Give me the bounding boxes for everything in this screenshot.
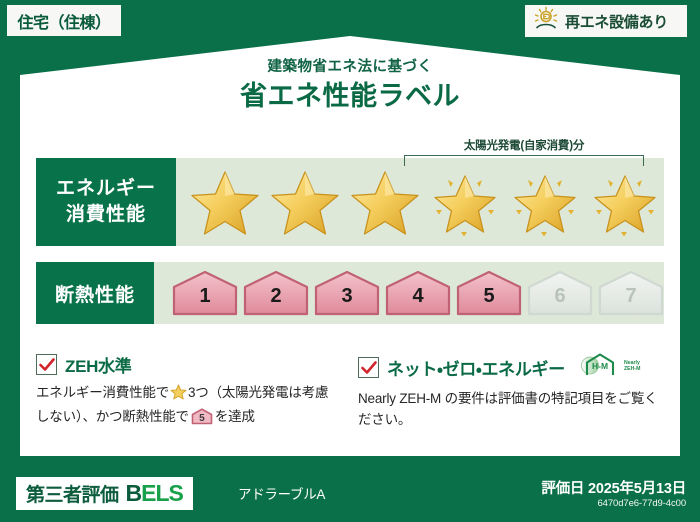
evaluation-id: 6470d7e6-77d9-4c00 xyxy=(541,498,686,510)
energy-performance-row: エネルギー 消費性能 太陽光発電(自家消費)分 xyxy=(36,158,664,246)
insulation-performance-label-box: 断熱性能 xyxy=(36,262,154,324)
energy-stars-area: 太陽光発電(自家消費)分 xyxy=(176,158,664,246)
insulation-level-2: 2 xyxy=(243,270,309,316)
dwelling-type-badge: 住宅（住棟） xyxy=(6,4,122,37)
zeh-checkbox-checked-icon xyxy=(36,354,57,375)
net-zero-criteria-block: ネット・ゼロ・エネルギー H-M Nearly ZEH-M Nearly ZEH… xyxy=(358,352,668,431)
energy-performance-label-box: エネルギー 消費性能 xyxy=(36,158,176,246)
evaluation-info: 評価日 2025年5月13日 6470d7e6-77d9-4c00 xyxy=(541,480,686,510)
star-2 xyxy=(266,166,344,238)
insulation-level-1: 1 xyxy=(172,270,238,316)
energy-label-line2: 消費性能 xyxy=(66,202,146,228)
insulation-level-3: 3 xyxy=(314,270,380,316)
dwelling-type-label: 住宅（住棟） xyxy=(17,9,110,33)
insulation-level-4: 4 xyxy=(385,270,451,316)
insulation-levels-area: 1 2 3 4 xyxy=(154,262,664,324)
bels-jp-label: 第三者評価 xyxy=(26,480,119,507)
label-subtitle: 建築物省エネ法に基づく xyxy=(0,60,700,76)
star-6-solar xyxy=(586,166,664,238)
star-1 xyxy=(186,166,264,238)
energy-label-line1: エネルギー xyxy=(56,176,156,202)
inline-star-icon xyxy=(170,388,187,403)
bels-wordmark-els: ELS xyxy=(141,480,183,506)
insulation-label: 断熱性能 xyxy=(55,280,135,307)
insulation-level-5-num: 5 xyxy=(483,286,494,316)
net-zero-criteria-header: ネット・ゼロ・エネルギー H-M Nearly ZEH-M xyxy=(358,352,668,383)
zeh-criteria-title: ZEH水準 xyxy=(65,352,132,377)
star-3 xyxy=(346,166,424,238)
insulation-performance-row: 断熱性能 1 xyxy=(36,262,664,324)
insulation-level-6: 6 xyxy=(527,270,593,316)
renewable-equipment-badge: 再エネ設備あり xyxy=(524,4,688,38)
insulation-level-3-num: 3 xyxy=(341,286,352,316)
net-zero-checkbox-checked-icon xyxy=(358,357,379,378)
label-main-title: 省エネ性能ラベル xyxy=(0,80,700,114)
zeh-body-part1: エネルギー消費性能で xyxy=(36,385,169,400)
energy-performance-label: 住宅（住棟） 再エネ設備あり 建築物省エネ法に基づく xyxy=(0,0,700,522)
insulation-level-2-num: 2 xyxy=(270,286,281,316)
svg-text:ZEH-M: ZEH-M xyxy=(624,366,640,372)
insulation-level-strip: 1 2 3 4 xyxy=(154,270,664,316)
net-zero-criteria-title: ネット・ゼロ・エネルギー xyxy=(387,355,565,380)
nearly-zeh-m-logo-icon: H-M Nearly ZEH-M xyxy=(579,352,641,383)
renewable-equipment-label: 再エネ設備あり xyxy=(565,11,668,32)
net-zero-criteria-body: Nearly ZEH-M の要件は評価書の特記項目をご覧ください。 xyxy=(358,389,668,431)
zeh-body-part3: を達成 xyxy=(215,409,255,424)
bels-wordmark: BELS xyxy=(126,480,183,507)
inline-house-num: 5 xyxy=(191,411,213,427)
insulation-level-4-num: 4 xyxy=(412,286,423,316)
insulation-level-5: 5 xyxy=(456,270,522,316)
evaluation-date: 評価日 2025年5月13日 xyxy=(541,480,686,498)
zeh-criteria-block: ZEH水準 エネルギー消費性能で3つ（太陽光発電は考慮しない）、かつ断熱性能で5… xyxy=(36,352,336,432)
star-5-solar xyxy=(506,166,584,238)
bels-third-party-badge: 第三者評価 BELS xyxy=(16,477,193,510)
sun-solar-icon xyxy=(533,6,559,37)
label-title-block: 建築物省エネ法に基づく 省エネ性能ラベル xyxy=(0,60,700,114)
svg-text:H-M: H-M xyxy=(592,361,608,371)
zeh-criteria-body: エネルギー消費性能で3つ（太陽光発電は考慮しない）、かつ断熱性能で5を達成 xyxy=(36,383,336,432)
star-4-solar xyxy=(426,166,504,238)
building-name: アドラーブルA xyxy=(238,483,325,503)
zeh-criteria-header: ZEH水準 xyxy=(36,352,336,377)
insulation-level-7-num: 7 xyxy=(625,286,636,316)
inline-insulation-house-icon: 5 xyxy=(191,408,213,432)
insulation-level-7: 7 xyxy=(598,270,664,316)
insulation-level-6-num: 6 xyxy=(554,286,565,316)
star-rating-strip xyxy=(176,166,664,238)
insulation-level-1-num: 1 xyxy=(199,286,210,316)
bels-wordmark-b: B xyxy=(126,480,142,506)
